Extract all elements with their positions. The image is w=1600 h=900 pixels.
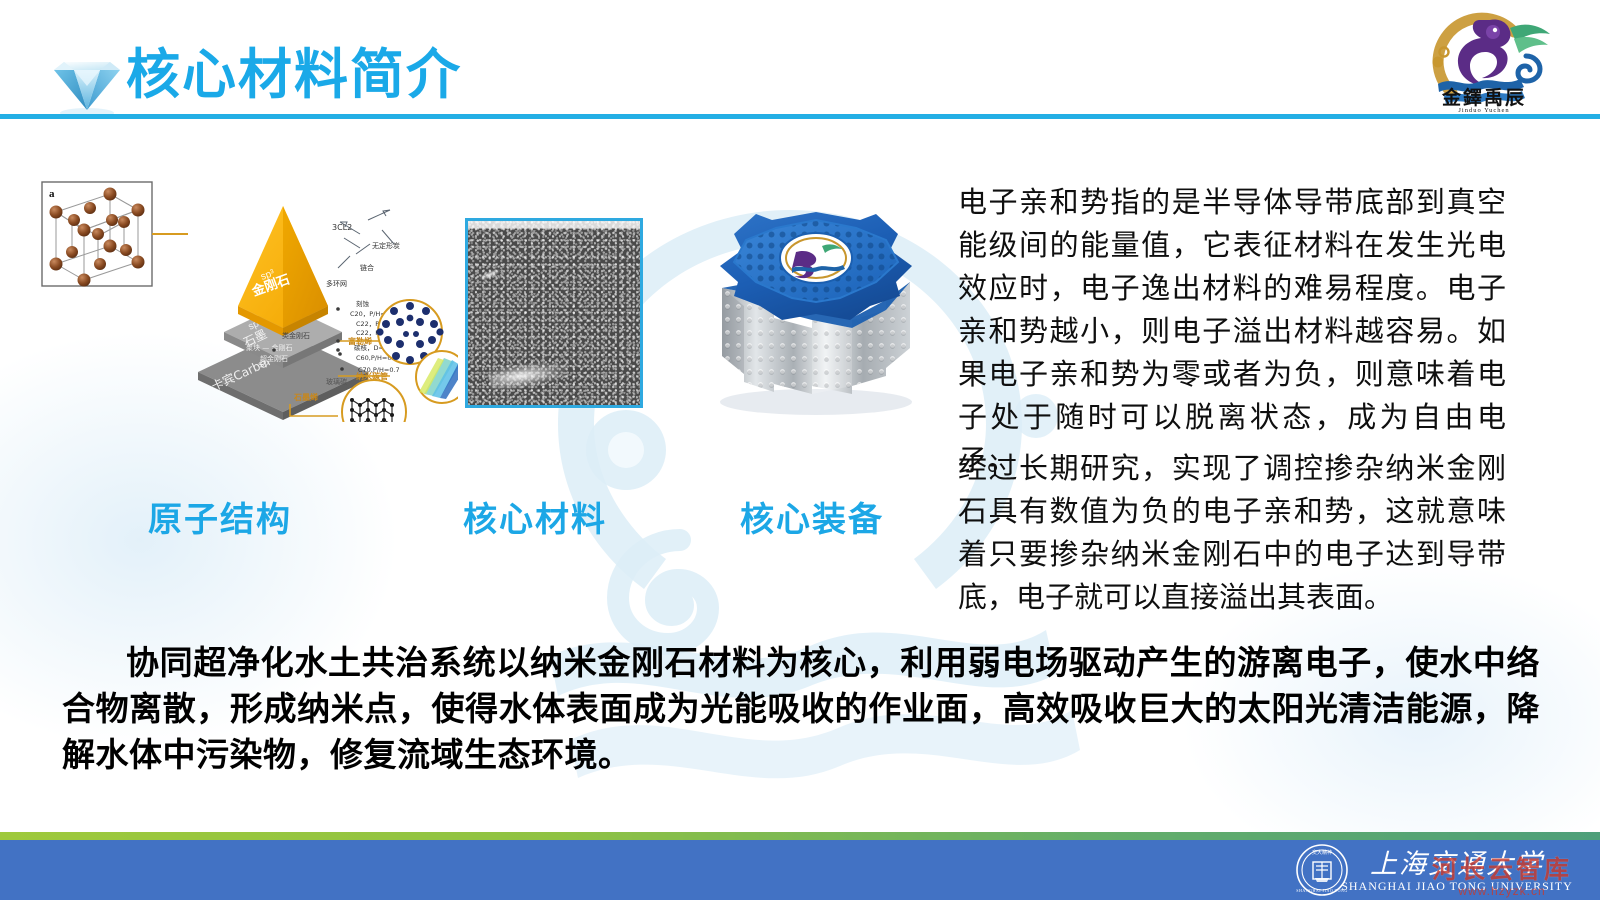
pyramid-tier-sp3: sp³ 金刚石 [238, 206, 328, 336]
figure-core-material-photo [465, 218, 643, 408]
device-badge-icon [780, 233, 852, 283]
svg-text:刻蚀: 刻蚀 [356, 299, 370, 308]
svg-text:无定形炭: 无定形炭 [372, 241, 400, 250]
brand-logo-icon: 金鐸禹辰 Jinduo Yuchen [1394, 4, 1574, 114]
svg-text:聚块 — 金刚石: 聚块 — 金刚石 [246, 343, 292, 352]
slide-header: 核心材料简介 金鐸禹辰 Jinduo [0, 0, 1600, 120]
caption-core-equipment: 核心装备 [740, 492, 884, 541]
svg-text:SHANGHAI JIAO TONG: SHANGHAI JIAO TONG [1296, 888, 1348, 893]
svg-text:多环网: 多环网 [326, 279, 347, 288]
body-paragraph-1: 电子亲和势指的是半导体导带底部到真空能级间的能量值，它表征材料在发生光电效应时，… [958, 182, 1506, 483]
caption-atomic-structure: 原子结构 [148, 492, 292, 541]
diamond-icon [44, 44, 130, 120]
sjtu-seal-icon: 交大精神 SHANGHAI JIAO TONG 上海交通大学 SHANGHAI … [1282, 840, 1582, 900]
body-paragraph-2: 经过长期研究，实现了调控掺杂纳米金刚石具有数值为负的电子亲和势，这就意味着只要掺… [958, 448, 1506, 620]
summary-paragraph: 协同超净化水土共治系统以纳米金刚石材料为核心，利用弱电场驱动产生的游离电子，使水… [62, 640, 1540, 778]
svg-text:玻璃碳: 玻璃碳 [326, 377, 347, 386]
sjtu-seal: 交大精神 SHANGHAI JIAO TONG [1296, 845, 1348, 895]
svg-text:石墨烯: 石墨烯 [293, 392, 318, 402]
svg-text:上海交通大学: 上海交通大学 [1370, 849, 1545, 880]
svg-text:3CL2: 3CL2 [332, 223, 352, 232]
footer-accent-strip [0, 832, 1600, 840]
svg-text:Jinduo Yuchen: Jinduo Yuchen [1458, 107, 1509, 114]
caption-core-material: 核心材料 [463, 492, 607, 541]
nanotube-icon [416, 351, 458, 403]
slide-canvas: 核心材料简介 金鐸禹辰 Jinduo [0, 0, 1600, 900]
reaction-arrows [338, 210, 394, 268]
header-divider [0, 114, 1600, 119]
svg-text:交大精神: 交大精神 [1312, 849, 1332, 856]
svg-text:SHANGHAI JIAO TONG UNIVERSITY: SHANGHAI JIAO TONG UNIVERSITY [1341, 879, 1573, 893]
page-title: 核心材料简介 [126, 44, 462, 106]
lattice-inset: a [42, 182, 188, 287]
figure-core-equipment [700, 196, 932, 422]
svg-text:金鐸禹辰: 金鐸禹辰 [1441, 86, 1526, 109]
svg-text:类金刚石: 类金刚石 [282, 331, 310, 340]
svg-text:a: a [49, 188, 55, 200]
svg-text:超金刚石: 超金刚石 [260, 354, 288, 363]
figure-atomic-structure: a [38, 172, 458, 422]
svg-text:链合: 链合 [360, 263, 374, 272]
